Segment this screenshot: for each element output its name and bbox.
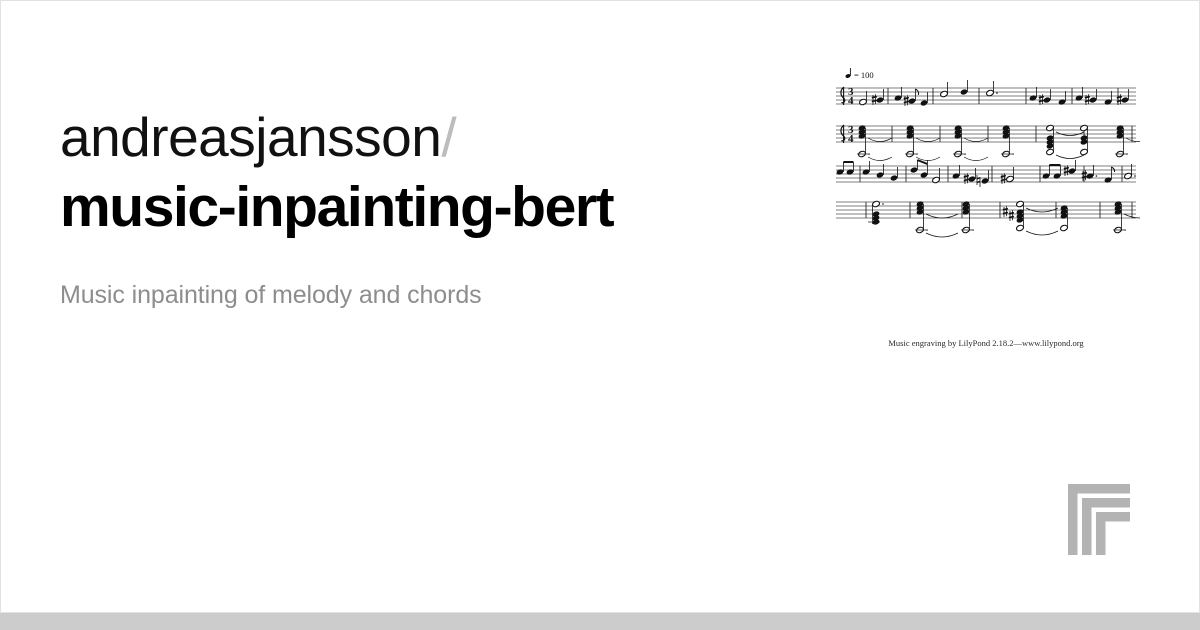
staff-4-chords [836,200,1140,237]
owner-line: andreasjansson/ [60,104,780,170]
replicate-logo [1068,484,1140,555]
social-preview-card: andreasjansson/ music-inpainting-bert Mu… [0,0,1200,630]
lilypond-credit: Music engraving by LilyPond 2.18.2—www.l… [832,338,1140,349]
sheet-music-preview: = 100 3 4 [832,62,1140,352]
svg-text:= 100: = 100 [854,70,874,80]
svg-text:4: 4 [848,133,854,145]
tempo-marking: = 100 [845,68,874,80]
model-heading: andreasjansson/ music-inpainting-bert [60,104,780,242]
sheet-music-svg: = 100 3 4 [832,62,1140,352]
svg-text:4: 4 [848,95,854,107]
owner-name[interactable]: andreasjansson [60,106,441,168]
staff-2-chords: 3 4 [836,124,1140,161]
model-description: Music inpainting of melody and chords [60,279,482,311]
owner-model-separator: / [441,106,456,168]
replicate-logo-icon [1068,484,1140,555]
staff-3-melody [836,160,1136,187]
model-name[interactable]: music-inpainting-bert [60,172,780,242]
bottom-accent-bar [0,613,1200,630]
staff-1-melody: 3 4 [836,80,1136,107]
